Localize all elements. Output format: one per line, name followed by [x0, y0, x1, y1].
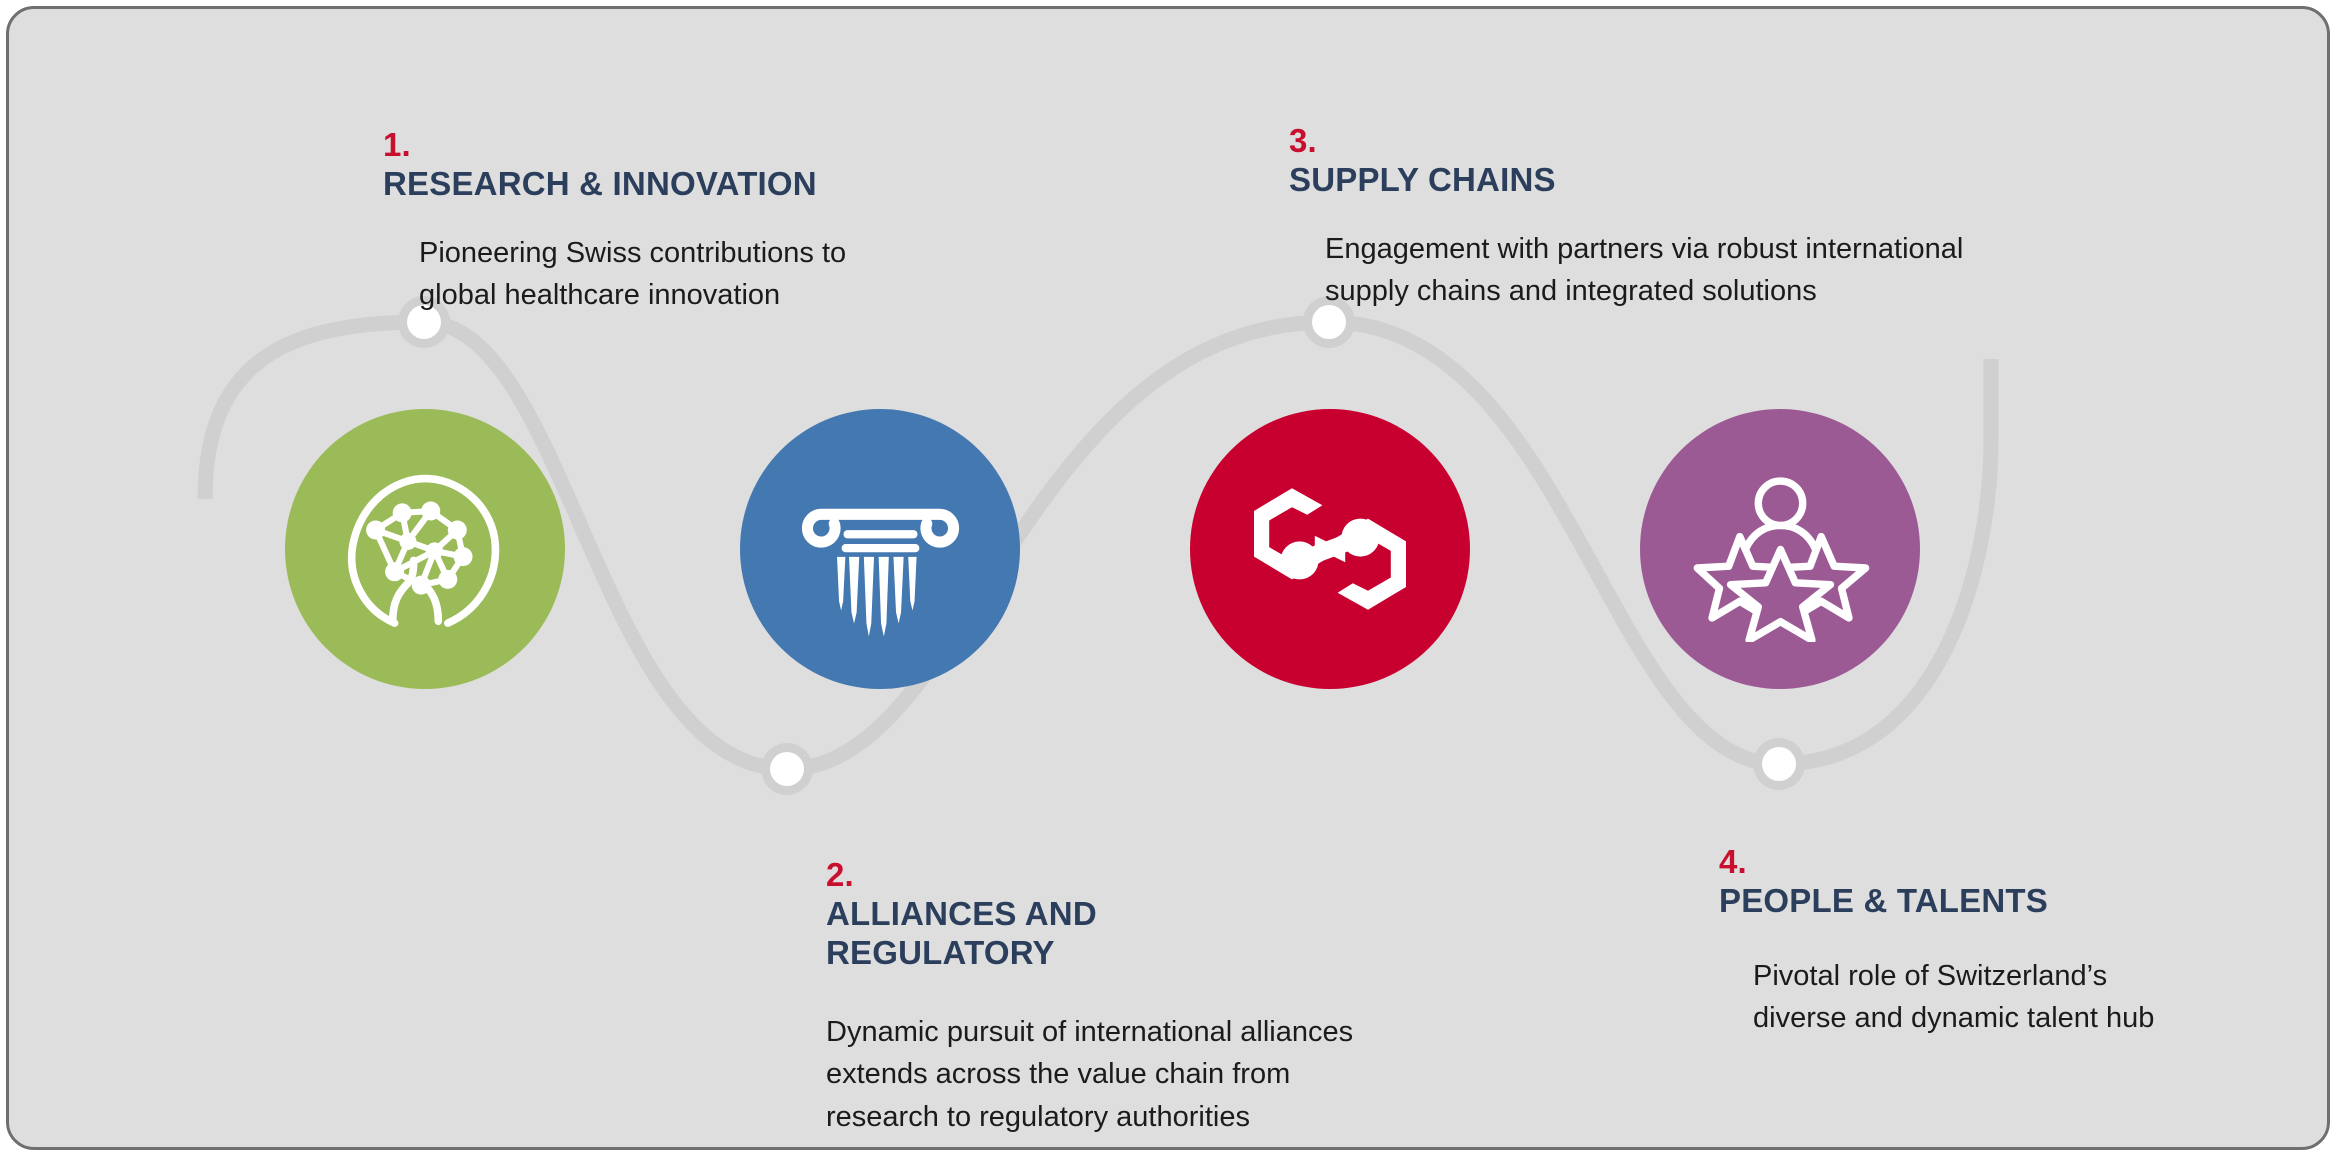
heading-alliances: 2. ALLIANCES AND REGULATORY: [826, 817, 1156, 973]
item-description-2: Dynamic pursuit of international allianc…: [826, 1011, 1506, 1139]
icon-circle-supply[interactable]: [1190, 409, 1470, 689]
text-block-supply: 3. SUPPLY CHAINS Engagement with partner…: [1289, 83, 2129, 313]
text-block-people: 4. PEOPLE & TALENTS Pivotal role of Swit…: [1719, 804, 2319, 1040]
node-dot-ring-4: [1753, 738, 1805, 790]
heading-supply: 3. SUPPLY CHAINS: [1289, 83, 2129, 200]
item-number-2: 2.: [826, 856, 854, 893]
item-title-1: RESEARCH & INNOVATION: [383, 165, 817, 202]
node-dot-2: [770, 752, 804, 786]
icon-circle-alliances[interactable]: [740, 409, 1020, 689]
icon-circle-people[interactable]: [1640, 409, 1920, 689]
item-number-1: 1.: [383, 126, 411, 163]
classical-pillar-icon: [788, 457, 973, 642]
interlocking-chain-links-icon: [1235, 454, 1425, 644]
heading-people: 4. PEOPLE & TALENTS: [1719, 804, 2319, 921]
item-number-3: 3.: [1289, 122, 1317, 159]
node-dot-ring-2: [761, 743, 813, 795]
item-number-4: 4.: [1719, 843, 1747, 880]
network-molecule-icon: [330, 454, 520, 644]
item-description-3: Engagement with partners via robust inte…: [1325, 228, 2129, 313]
node-dot-4: [1762, 747, 1796, 781]
item-title-3: SUPPLY CHAINS: [1289, 161, 1556, 198]
item-description-1: Pioneering Swiss contributions to global…: [419, 232, 1003, 317]
infographic-canvas: 1. RESEARCH & INNOVATION Pioneering Swis…: [6, 6, 2330, 1150]
person-with-stars-icon: [1688, 457, 1873, 642]
item-title-2: ALLIANCES AND REGULATORY: [826, 895, 1097, 971]
item-description-4: Pivotal role of Switzerland’s diverse an…: [1753, 955, 2319, 1040]
text-block-research: 1. RESEARCH & INNOVATION Pioneering Swis…: [383, 87, 1003, 317]
icon-circle-research[interactable]: [285, 409, 565, 689]
heading-research: 1. RESEARCH & INNOVATION: [383, 87, 1003, 204]
item-title-4: PEOPLE & TALENTS: [1719, 882, 2048, 919]
text-block-alliances: 2. ALLIANCES AND REGULATORY Dynamic purs…: [826, 817, 1506, 1139]
